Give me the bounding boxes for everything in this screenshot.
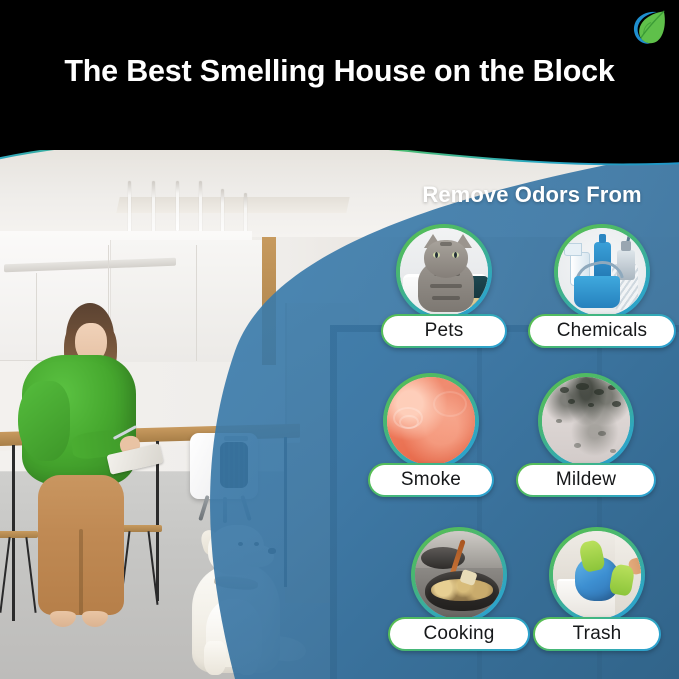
- card-smoke[interactable]: Smoke: [368, 373, 494, 497]
- bubble-chemicals[interactable]: [554, 224, 650, 320]
- mold-wall-icon: [542, 377, 630, 465]
- product-marketing-image: Remove Odors From: [0, 0, 679, 679]
- pill-mildew[interactable]: Mildew: [516, 463, 656, 497]
- label-smoke: Smoke: [370, 465, 492, 495]
- panel-title: Remove Odors From: [396, 182, 668, 208]
- trash-bag-gloves-icon: [553, 531, 641, 619]
- pill-chemicals[interactable]: Chemicals: [528, 314, 676, 348]
- page-title: The Best Smelling House on the Block: [0, 54, 679, 89]
- label-pets: Pets: [383, 316, 505, 346]
- pill-cooking[interactable]: Cooking: [388, 617, 530, 651]
- label-mildew: Mildew: [518, 465, 654, 495]
- card-chemicals[interactable]: Chemicals: [528, 224, 676, 348]
- label-chemicals: Chemicals: [530, 316, 674, 346]
- card-trash[interactable]: Trash: [533, 527, 661, 651]
- label-cooking: Cooking: [390, 619, 528, 649]
- pill-pets[interactable]: Pets: [381, 314, 507, 348]
- cat-litter-box-icon: [400, 228, 488, 316]
- frying-pan-icon: [415, 531, 503, 619]
- smoke-swirl-icon: [387, 377, 475, 465]
- bubble-trash[interactable]: [549, 527, 645, 623]
- odor-category-grid: Remove Odors From: [0, 145, 679, 679]
- bubble-cooking[interactable]: [411, 527, 507, 623]
- card-cooking[interactable]: Cooking: [388, 527, 530, 651]
- leaf-in-circle-logo: [628, 6, 670, 48]
- bubble-smoke[interactable]: [383, 373, 479, 469]
- bubble-pets[interactable]: [396, 224, 492, 320]
- label-trash: Trash: [535, 619, 659, 649]
- bubble-mildew[interactable]: [538, 373, 634, 469]
- pill-trash[interactable]: Trash: [533, 617, 661, 651]
- card-pets[interactable]: Pets: [381, 224, 507, 348]
- pill-smoke[interactable]: Smoke: [368, 463, 494, 497]
- cleaning-supplies-icon: [558, 228, 646, 316]
- card-mildew[interactable]: Mildew: [516, 373, 656, 497]
